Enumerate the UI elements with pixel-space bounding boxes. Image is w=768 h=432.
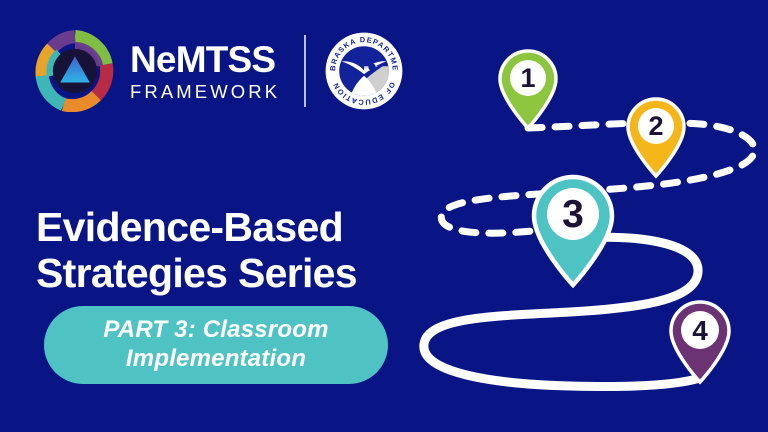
journey-pin-2[interactable]: 2 (628, 99, 684, 176)
journey-pin-4[interactable]: 4 (671, 302, 729, 382)
pin-number-label-1: 1 (520, 63, 535, 93)
nemtss-name: NeMTSS (130, 41, 280, 78)
nemtss-triangle-swirl-icon (34, 30, 116, 112)
journey-pin-1[interactable]: 1 (500, 51, 556, 128)
journey-pin-3[interactable]: 3 (534, 177, 612, 285)
pin-number-label-3: 3 (562, 193, 584, 236)
nebraska-department-of-education-seal: NEBRASKA DEPARTMENT OF EDUCATION (324, 31, 404, 111)
nemtss-wordmark: NeMTSS FRAMEWORK (130, 41, 280, 102)
journey-graphic: 1 2 3 4 (400, 0, 768, 432)
title-line-1: Evidence-Based (36, 205, 357, 251)
title-line-2: Strategies Series (36, 251, 357, 297)
part-badge-label: PART 3: Classroom Implementation (103, 316, 328, 374)
nemtss-subtitle: FRAMEWORK (130, 83, 280, 102)
pin-number-label-4: 4 (692, 315, 708, 346)
pin-number-label-2: 2 (648, 111, 663, 141)
part-badge: PART 3: Classroom Implementation (44, 306, 388, 384)
slide-canvas: NeMTSS FRAMEWORK NEBRASKA DEPARTMENT OF … (0, 0, 768, 432)
logo-divider (304, 35, 306, 107)
logo-lockup: NeMTSS FRAMEWORK NEBRASKA DEPARTMENT OF … (34, 30, 404, 112)
page-title: Evidence-Based Strategies Series (36, 205, 357, 297)
